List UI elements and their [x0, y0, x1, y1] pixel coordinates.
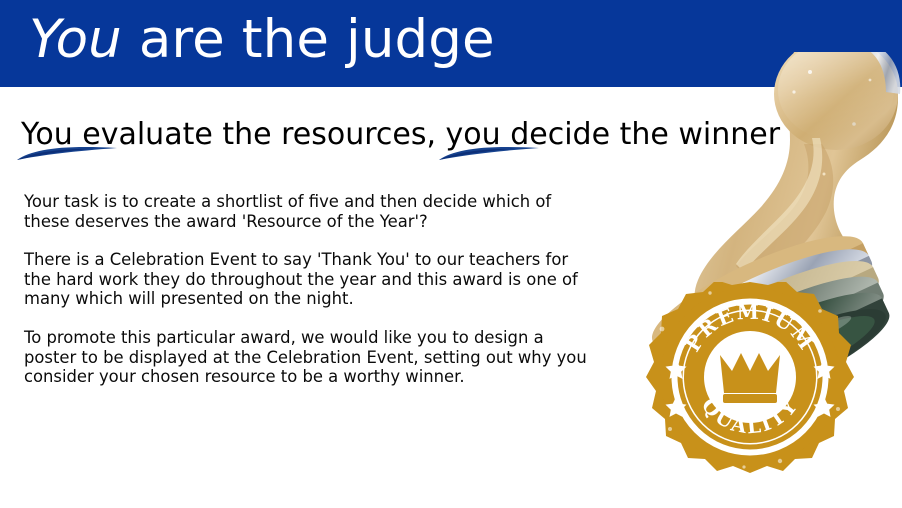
slide-canvas: You are the judge	[0, 0, 902, 508]
seal-outer-ring	[646, 280, 854, 473]
seal-impression: PREMIUM QUALITY	[646, 280, 854, 473]
page-title-emphasis: You	[29, 9, 122, 70]
body-paragraph: There is a Celebration Event to say 'Tha…	[24, 250, 599, 309]
seal-bottom-text: QUALITY	[697, 393, 803, 438]
seal-top-text: PREMIUM	[680, 300, 819, 356]
body-paragraph: To promote this particular award, we wou…	[24, 328, 599, 387]
crown-icon	[720, 353, 780, 403]
page-title: You are the judge	[29, 2, 495, 78]
stamp-handle	[695, 52, 901, 342]
swoosh-underline-icon	[437, 146, 541, 166]
subtitle: You evaluate the resources, you decide t…	[21, 117, 780, 153]
body-paragraph: Your task is to create a shortlist of fi…	[24, 192, 599, 231]
page-title-rest: are the judge	[122, 9, 495, 70]
swoosh-underline-icon	[15, 146, 119, 166]
title-banner: You are the judge	[0, 0, 902, 87]
seal-star-icon	[666, 359, 835, 417]
body-copy: Your task is to create a shortlist of fi…	[24, 192, 599, 387]
stamp-base	[640, 216, 902, 432]
